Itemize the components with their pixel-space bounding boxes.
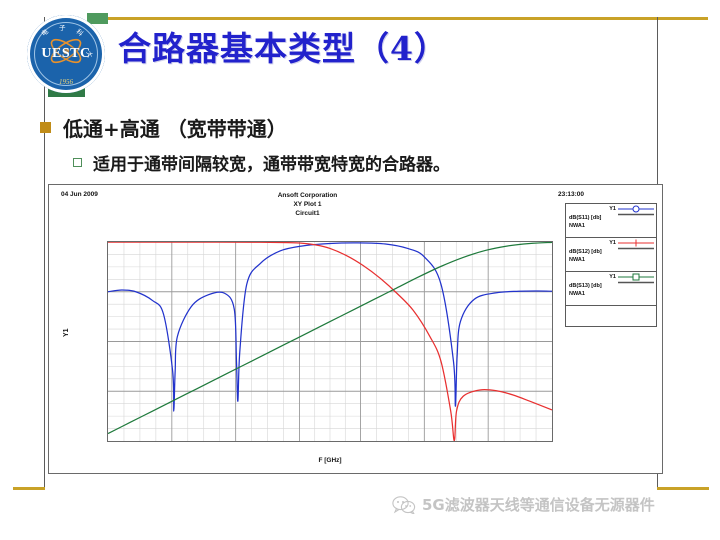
logo-cn-2: 子 — [59, 22, 66, 32]
watermark: 5G滤波器天线等通信设备无源器件 — [392, 494, 655, 515]
wechat-icon — [392, 496, 416, 514]
page-title: 合路器基本类型（4） — [118, 22, 448, 70]
logo-acronym: UESTC — [27, 46, 105, 62]
y-tick-mark — [107, 280, 108, 281]
y-axis-label: Y1 — [63, 328, 70, 337]
y-tick-mark — [107, 330, 108, 331]
y-tick-mark — [107, 267, 108, 268]
legend-item-s12[interactable]: Y1 dB(S12) [db] NWA1 — [566, 238, 656, 272]
y-tick-mark — [107, 317, 108, 318]
uestc-logo: 电 子 科 大 UESTC 1956 — [25, 13, 107, 97]
y-tick-mark — [107, 255, 108, 256]
bullet-level1: 低通+高通 （宽带带通） — [40, 113, 287, 142]
chart-legend: Y1 dB(S11) [db] NWA1 Y1 dB(S12) [db] NWA… — [565, 203, 657, 327]
y-tick-mark — [107, 305, 108, 306]
x-axis-label: F [GHz] — [318, 457, 341, 464]
frame-accent-bottom-right — [657, 487, 709, 490]
legend-curve-label-3: Y1 — [569, 274, 616, 280]
legend-item-s11[interactable]: Y1 dB(S11) [db] NWA1 — [566, 204, 656, 238]
legend-series-name-2: dB(S12) [db] — [569, 249, 602, 255]
legend-swatch-circle-icon — [618, 205, 654, 217]
y-tick-mark — [107, 355, 108, 356]
logo-accent-top — [87, 13, 108, 24]
legend-curve-label-2: Y1 — [569, 240, 616, 246]
legend-series-source-3: NWA1 — [569, 291, 585, 297]
legend-series-source-2: NWA1 — [569, 257, 585, 263]
legend-series-name-1: dB(S11) [db] — [569, 215, 601, 221]
frame-line-top — [108, 17, 708, 20]
legend-swatch-square-icon — [618, 273, 654, 285]
chart-panel: 04 Jun 2009 Ansoft Corporation XY Plot 1… — [48, 184, 663, 474]
y-tick-mark — [107, 368, 108, 369]
chart-time: 23:13:00 — [558, 191, 584, 198]
legend-spacer — [566, 306, 656, 326]
slide-canvas: 电 子 科 大 UESTC 1956 合路器基本类型（4） 低通+高通 （宽带带… — [0, 0, 720, 540]
legend-series-source-1: NWA1 — [569, 223, 585, 229]
y-tick-mark — [107, 430, 108, 431]
bullet-level2: 适用于通带间隔较宽，通带带宽特宽的合路器。 — [73, 150, 450, 175]
logo-year: 1956 — [27, 78, 105, 86]
bullet-level2-label: 适用于通带间隔较宽，通带带宽特宽的合路器。 — [93, 150, 450, 175]
legend-item-s13[interactable]: Y1 dB(S13) [db] NWA1 — [566, 272, 656, 306]
legend-series-name-3: dB(S13) [db] — [569, 283, 602, 289]
legend-curve-label-1: Y1 — [569, 206, 616, 212]
logo-disc: 电 子 科 大 UESTC 1956 — [27, 15, 105, 93]
watermark-label: 5G滤波器天线等通信设备无源器件 — [422, 494, 655, 515]
plot-svg — [108, 242, 552, 441]
chart-subtitle-2: Circuit1 — [49, 209, 566, 218]
frame-accent-bottom-left — [13, 487, 45, 490]
bullet-square-outline-icon — [73, 158, 82, 167]
bullet-level1-label: 低通+高通 （宽带带通） — [63, 113, 287, 142]
plot-area: 0.00-20.00-40.00-60.00-80.000.500.730.96… — [107, 241, 553, 442]
y-tick-mark — [107, 405, 108, 406]
legend-swatch-cross-icon — [618, 239, 654, 251]
chart-title: Ansoft Corporation — [49, 191, 566, 200]
bullet-square-icon — [40, 122, 51, 133]
chart-subtitle: XY Plot 1 — [49, 200, 566, 209]
y-tick-mark — [107, 418, 108, 419]
y-tick-mark — [107, 380, 108, 381]
